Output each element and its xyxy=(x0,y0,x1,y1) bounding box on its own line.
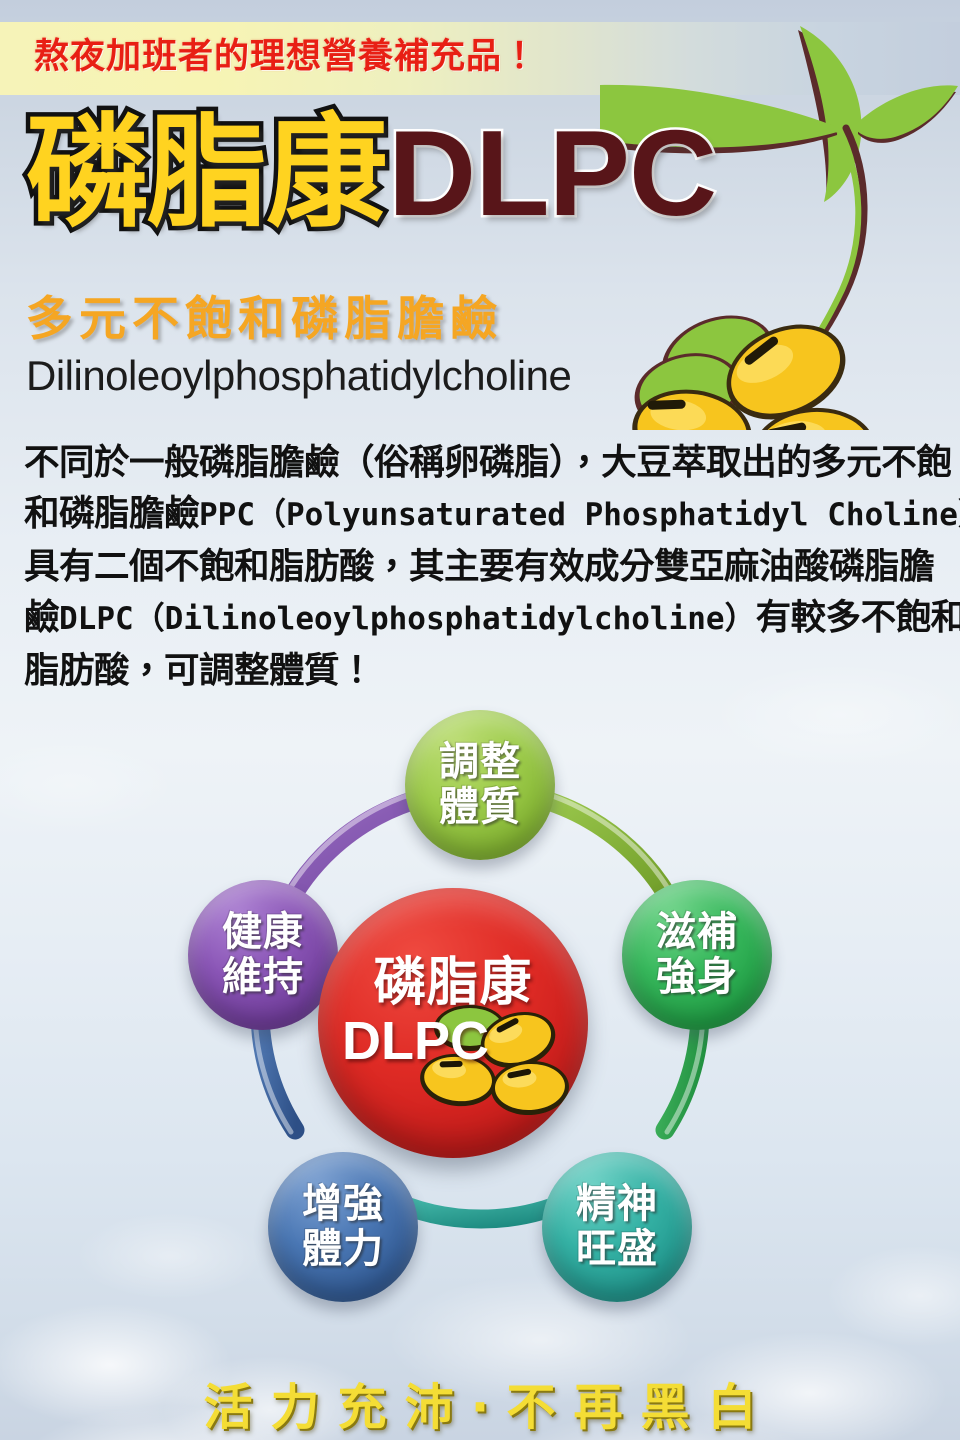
product-subtitle-cjk: 多元不飽和磷脂膽鹼 xyxy=(26,280,503,349)
product-subtitle-latin: Dilinoleoylphosphatidylcholine xyxy=(26,352,571,400)
poster-root: 熬夜加班者的理想營養補充品！ xyxy=(0,0,960,1440)
description-line-2-latin: PPC（Polyunsaturated Phosphatidyl Choline… xyxy=(199,497,960,533)
leaf-icon-right xyxy=(856,85,958,143)
description-line-4-cjk-tail: 有較多不飽和 xyxy=(756,597,960,637)
brand-center-bubble[interactable]: 磷脂康 DLPC xyxy=(318,888,588,1158)
brand-center-latin: DLPC xyxy=(342,1010,489,1072)
description-line-1: 不同於一般磷脂膽鹼（俗稱卵磷脂），大豆萃取出的多元不飽 xyxy=(24,437,942,488)
product-title-cjk: 磷脂康 xyxy=(26,112,386,234)
description-line-5: 脂肪酸，可調整體質！ xyxy=(24,645,942,696)
description-paragraph: 不同於一般磷脂膽鹼（俗稱卵磷脂），大豆萃取出的多元不飽 和磷脂膽鹼PPC（Pol… xyxy=(24,437,942,696)
description-line-1-text: 不同於一般磷脂膽鹼（俗稱卵磷脂），大豆萃取出的多元不飽 xyxy=(24,442,951,482)
description-line-2-cjk: 和磷脂膽鹼 xyxy=(24,493,199,533)
benefit-label-line2: 體質 xyxy=(439,785,521,830)
product-title-latin: DLPC xyxy=(388,112,716,234)
description-line-3-text: 具有二個不飽和脂肪酸，其主要有效成分雙亞麻油酸磷脂膽 xyxy=(24,546,934,586)
benefit-label-line1: 增強 xyxy=(302,1182,384,1227)
benefit-label-line2: 旺盛 xyxy=(576,1227,658,1272)
benefit-label-line1: 調整 xyxy=(439,740,521,785)
benefit-bubble-zibu-qiangshen[interactable]: 滋補 強身 xyxy=(622,880,772,1030)
bottom-tagline: 活力充沛‧不再黑白 xyxy=(0,1368,960,1439)
description-line-2: 和磷脂膽鹼PPC（Polyunsaturated Phosphatidyl Ch… xyxy=(24,488,942,541)
benefit-label-line1: 滋補 xyxy=(656,910,738,955)
header-banner-text: 熬夜加班者的理想營養補充品！ xyxy=(34,28,538,79)
description-line-4-latin: DLPC（Dilinoleoylphosphatidylcholine） xyxy=(59,601,756,637)
description-line-5-text: 脂肪酸，可調整體質！ xyxy=(24,650,374,690)
description-line-3: 具有二個不飽和脂肪酸，其主要有效成分雙亞麻油酸磷脂膽 xyxy=(24,541,942,592)
benefits-wheel: 調整 體質 滋補 強身 精神 旺盛 增強 體力 健康 維持 磷脂康 DLPC xyxy=(160,700,800,1320)
benefit-label-line2: 維持 xyxy=(222,955,304,1000)
benefit-bubble-jingshen-wangsheng[interactable]: 精神 旺盛 xyxy=(542,1152,692,1302)
benefit-bubble-jiankang-weichi[interactable]: 健康 維持 xyxy=(188,880,338,1030)
description-line-4: 鹼DLPC（Dilinoleoylphosphatidylcholine）有較多… xyxy=(24,592,942,645)
benefit-bubble-tiaozheng-tizhi[interactable]: 調整 體質 xyxy=(405,710,555,860)
description-line-4-cjk-lead: 鹼 xyxy=(24,597,59,637)
benefit-label-line2: 體力 xyxy=(302,1227,384,1272)
benefit-label-line1: 精神 xyxy=(576,1182,658,1227)
benefit-bubble-zengqiang-tili[interactable]: 增強 體力 xyxy=(268,1152,418,1302)
product-title: 磷脂康 DLPC xyxy=(26,112,716,234)
benefit-label-line2: 強身 xyxy=(656,955,738,1000)
benefit-label-line1: 健康 xyxy=(222,910,304,955)
